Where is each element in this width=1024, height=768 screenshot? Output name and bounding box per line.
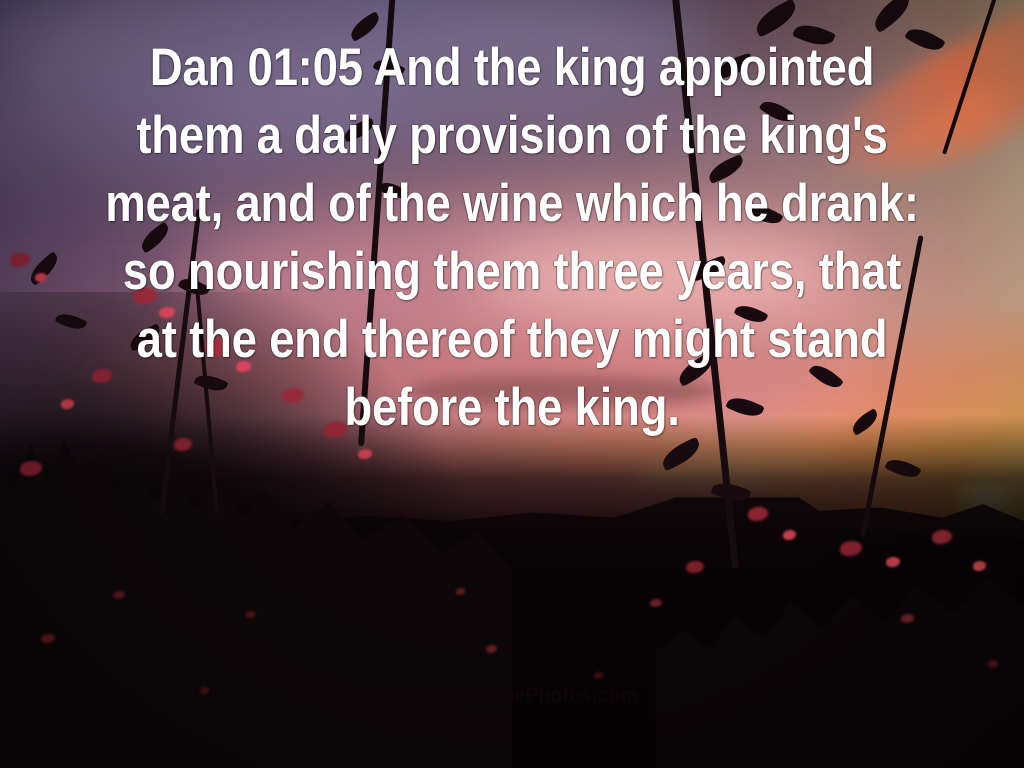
watermark-credit: (c) www.eBiblePhotos.com (41, 684, 983, 708)
verse-text: Dan 01:05 And the king appointed them a … (72, 34, 953, 442)
verse-photo-canvas: Dan 01:05 And the king appointed them a … (0, 0, 1024, 768)
